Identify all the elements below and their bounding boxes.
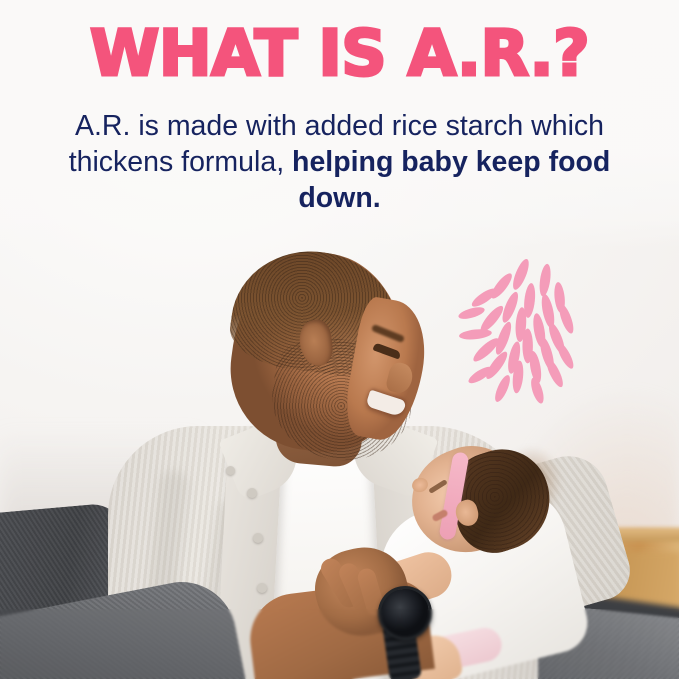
rice-grain (538, 263, 553, 297)
shirt-button (257, 583, 267, 593)
lifestyle-ad-image: WHAT IS A.R.? A.R. is made with added ri… (0, 0, 679, 679)
subheading-bold-text: helping baby keep food down. (292, 146, 610, 214)
rice-grain-cluster-icon (458, 255, 578, 405)
shirt-button (226, 466, 235, 475)
shirt-button (253, 533, 263, 543)
rice-grain (544, 357, 566, 389)
shirt-button (247, 488, 257, 498)
rice-grain (529, 376, 547, 405)
page-title: WHAT IS A.R.? (0, 22, 679, 85)
rice-grain (492, 373, 513, 403)
subheading-copy: A.R. is made with added rice starch whic… (40, 108, 639, 217)
rice-grain (458, 305, 486, 321)
rice-grain (557, 303, 577, 335)
rice-grain (555, 341, 577, 371)
